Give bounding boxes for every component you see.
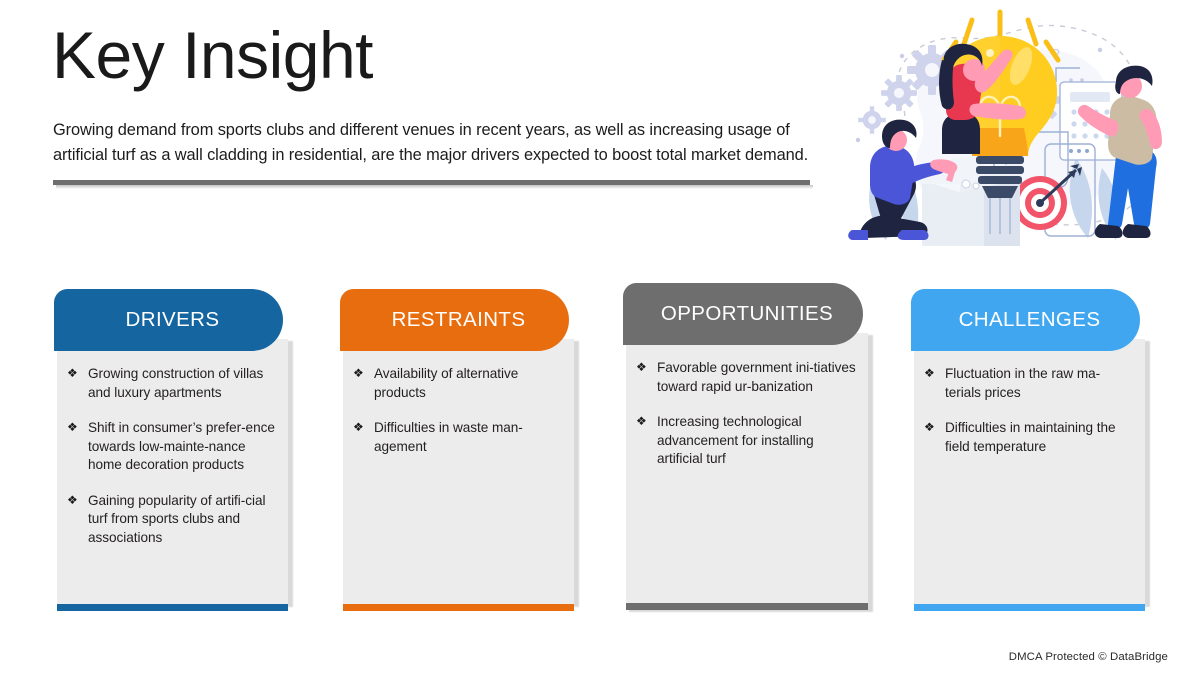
diamond-bullet-icon: ❖ [353, 418, 364, 437]
card-challenges: ❖Fluctuation in the raw ma-terials price… [911, 289, 1145, 611]
card-restraints: ❖Availability of alternative products ❖D… [340, 289, 574, 611]
list-item: ❖Difficulties in waste man-agement [353, 419, 562, 456]
subtitle-text: Growing demand from sports clubs and dif… [53, 118, 818, 168]
bullet-list: ❖Growing construction of villas and luxu… [67, 365, 276, 547]
card-header[interactable]: OPPORTUNITIES [623, 283, 863, 345]
card-drivers: ❖Growing construction of villas and luxu… [54, 289, 288, 611]
bullet-list: ❖Availability of alternative products ❖D… [353, 365, 562, 456]
list-item: ❖Growing construction of villas and luxu… [67, 365, 276, 402]
footer-attribution: DMCA Protected © DataBridge [1009, 651, 1168, 663]
bullet-list: ❖Favorable government ini-tiatives towar… [636, 359, 856, 469]
list-item: ❖Shift in consumer’s prefer-ence towards… [67, 419, 276, 475]
card-title: RESTRAINTS [340, 308, 569, 332]
card-header[interactable]: RESTRAINTS [340, 289, 569, 351]
idea-teamwork-illustration [824, 8, 1180, 256]
card-header[interactable]: DRIVERS [54, 289, 283, 351]
card-opportunities: ❖Favorable government ini-tiatives towar… [623, 283, 868, 617]
card-title: CHALLENGES [911, 308, 1140, 332]
card-body: ❖Favorable government ini-tiatives towar… [626, 333, 868, 609]
bullet-list: ❖Fluctuation in the raw ma-terials price… [924, 365, 1133, 456]
diamond-bullet-icon: ❖ [924, 364, 935, 383]
diamond-bullet-icon: ❖ [636, 412, 647, 431]
card-footer-bar [57, 604, 288, 611]
list-item: ❖Difficulties in maintaining the field t… [924, 419, 1133, 456]
circuit-dots [1069, 149, 1089, 153]
diamond-bullet-icon: ❖ [67, 364, 78, 383]
list-item: ❖Fluctuation in the raw ma-terials price… [924, 365, 1133, 402]
divider-shadow [56, 185, 813, 189]
card-body: ❖Availability of alternative products ❖D… [343, 339, 574, 604]
diamond-bullet-icon: ❖ [636, 358, 647, 377]
card-title: OPPORTUNITIES [623, 302, 863, 326]
card-body: ❖Growing construction of villas and luxu… [57, 339, 288, 604]
diamond-bullet-icon: ❖ [67, 491, 78, 510]
diamond-bullet-icon: ❖ [67, 418, 78, 437]
header-divider [53, 180, 810, 189]
card-footer-bar [626, 603, 868, 610]
card-footer-bar [914, 604, 1145, 611]
card-header[interactable]: CHALLENGES [911, 289, 1140, 351]
card-title: DRIVERS [54, 308, 283, 332]
diamond-bullet-icon: ❖ [353, 364, 364, 383]
list-item: ❖Availability of alternative products [353, 365, 562, 402]
slide-root: Key Insight Growing demand from sports c… [0, 0, 1200, 675]
list-item: ❖Favorable government ini-tiatives towar… [636, 359, 856, 396]
card-footer-bar [343, 604, 574, 611]
list-item: ❖Gaining popularity of artifi-cial turf … [67, 492, 276, 548]
page-title: Key Insight [52, 14, 373, 96]
diamond-bullet-icon: ❖ [924, 418, 935, 437]
card-body: ❖Fluctuation in the raw ma-terials price… [914, 339, 1145, 604]
list-item: ❖Increasing technological advancement fo… [636, 413, 856, 469]
